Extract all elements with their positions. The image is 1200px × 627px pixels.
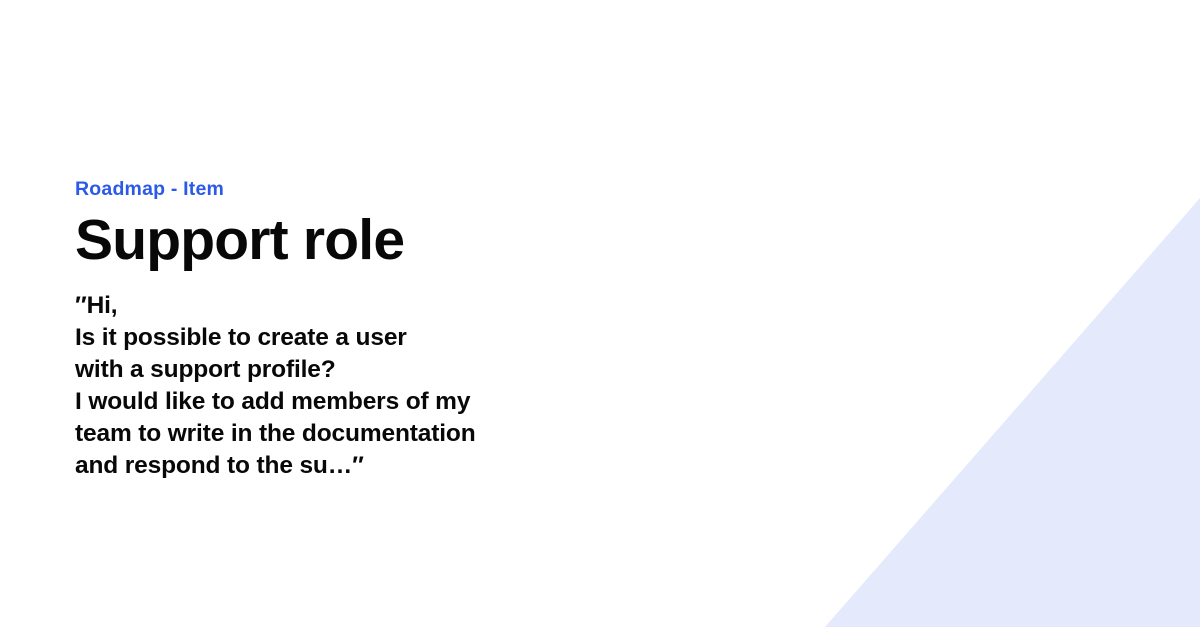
card-content: Roadmap - Item Support role ″Hi, Is it p…	[75, 176, 735, 482]
excerpt-line: team to write in the documentation	[75, 418, 735, 450]
excerpt-line: Is it possible to create a user	[75, 322, 735, 354]
page-title: Support role	[75, 208, 735, 272]
excerpt-body: ″Hi, Is it possible to create a user wit…	[75, 290, 735, 482]
social-share-card: Roadmap - Item Support role ″Hi, Is it p…	[0, 0, 1200, 627]
excerpt-line: ″Hi,	[75, 290, 735, 322]
excerpt-line: and respond to the su…″	[75, 450, 735, 482]
breadcrumb-eyebrow: Roadmap - Item	[75, 176, 735, 202]
wedge-shape	[825, 198, 1200, 627]
excerpt-line: with a support profile?	[75, 354, 735, 386]
excerpt-line: I would like to add members of my	[75, 386, 735, 418]
